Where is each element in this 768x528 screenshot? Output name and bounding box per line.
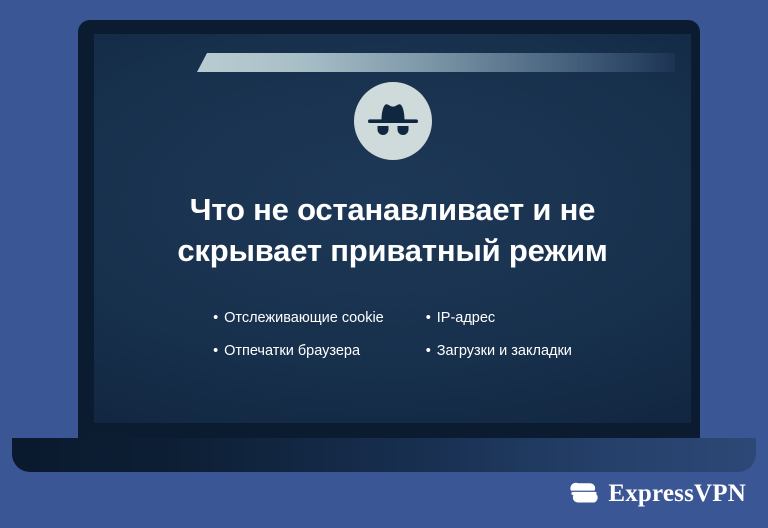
bullet-column-left: • Отслеживающие cookie • Отпечатки брауз… — [213, 310, 384, 361]
headline-line-1: Что не останавливает и не — [122, 189, 663, 230]
bullet-dot-icon: • — [426, 310, 437, 327]
bullet-column-right: • IP-адрес • Загрузки и закладки — [426, 310, 572, 361]
bullet-lists: • Отслеживающие cookie • Отпечатки брауз… — [94, 310, 691, 361]
laptop-base — [12, 438, 756, 472]
list-item: • Загрузки и закладки — [426, 343, 572, 360]
expressvpn-e-logo-icon — [569, 478, 599, 508]
slide-canvas: Что не останавливает и не скрывает прива… — [0, 0, 768, 528]
list-item: • Отпечатки браузера — [213, 343, 384, 360]
laptop-screen: Что не останавливает и не скрывает прива… — [94, 34, 691, 423]
laptop-frame: Что не останавливает и не скрывает прива… — [78, 20, 700, 438]
bullet-dot-icon: • — [213, 343, 224, 360]
list-item: • IP-адрес — [426, 310, 572, 327]
list-item-label: Загрузки и закладки — [437, 343, 572, 360]
list-item: • Отслеживающие cookie — [213, 310, 384, 327]
screen-glare — [197, 53, 675, 72]
bullet-dot-icon: • — [426, 343, 437, 360]
list-item-label: Отпечатки браузера — [224, 343, 360, 360]
headline-line-2: скрывает приватный режим — [122, 230, 663, 271]
incognito-icon — [354, 82, 432, 160]
brand-wordmark: ExpressVPN — [608, 481, 746, 506]
bullet-dot-icon: • — [213, 310, 224, 327]
list-item-label: Отслеживающие cookie — [224, 310, 384, 327]
page-title: Что не останавливает и не скрывает прива… — [122, 189, 663, 271]
expressvpn-logo: ExpressVPN — [569, 478, 746, 508]
list-item-label: IP-адрес — [437, 310, 495, 327]
